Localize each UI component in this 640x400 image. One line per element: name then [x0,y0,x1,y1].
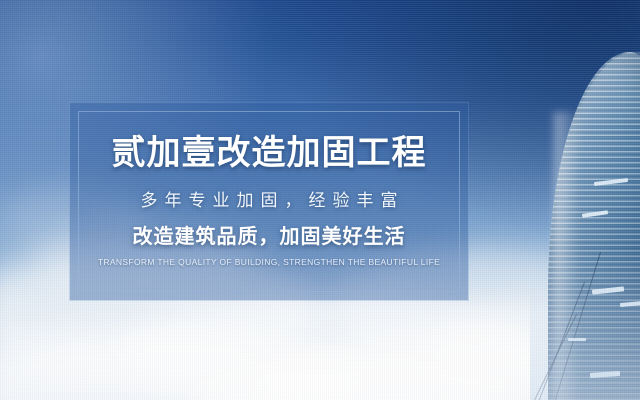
text-panel: 贰加壹改造加固工程 多年专业加固，经验丰富 改造建筑品质，加固美好生活 TRAN… [70,103,468,300]
banner-image: 贰加壹改造加固工程 多年专业加固，经验丰富 改造建筑品质，加固美好生活 TRAN… [0,0,640,400]
english-tagline: TRANSFORM THE QUALITY OF BUILDING, STREN… [98,258,440,267]
subheadline: 多年专业加固，经验丰富 [134,192,405,209]
headline: 贰加壹改造加固工程 [112,136,427,170]
panel-content: 贰加壹改造加固工程 多年专业加固，经验丰富 改造建筑品质，加固美好生活 TRAN… [70,103,468,300]
tagline: 改造建筑品质，加固美好生活 [133,227,406,247]
